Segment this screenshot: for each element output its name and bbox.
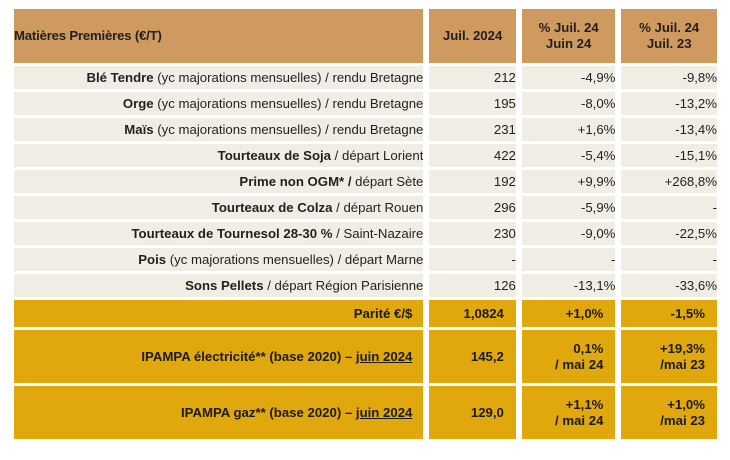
row-pct-year: - (621, 248, 717, 271)
row-value: 230 (429, 222, 516, 245)
ipampa-gaz-pct-month-main: +1,1% (566, 397, 604, 412)
table-row: Sons Pellets / départ Région Parisienne … (14, 274, 717, 297)
ipampa-gaz-pct-month-sub: / mai 24 (522, 413, 604, 429)
row-value: 126 (429, 274, 516, 297)
row-label: Sons Pellets / départ Région Parisienne (14, 274, 423, 297)
highlight-label-ipampa-electricite: IPAMPA électricité** (base 2020) – juin … (14, 330, 423, 383)
row-label-rest: (yc majorations mensuelles) / rendu Bret… (154, 96, 424, 111)
highlight-value-ipampa-gaz: 129,0 (429, 386, 516, 439)
column-header-value: Juil. 2024 (429, 9, 516, 63)
row-value: - (429, 248, 516, 271)
table-row: Pois (yc majorations mensuelles) / dépar… (14, 248, 717, 271)
highlight-label-ipampa-gaz: IPAMPA gaz** (base 2020) – juin 2024 (14, 386, 423, 439)
row-label-bold: Tourteaux de Colza (212, 200, 333, 215)
table-title: Matières Premières (€/T) (14, 9, 423, 63)
ipampa-electricite-base-year: 2020 (308, 349, 337, 364)
highlight-row-ipampa-gaz: IPAMPA gaz** (base 2020) – juin 2024 129… (14, 386, 717, 439)
row-pct-year: -13,4% (621, 118, 717, 141)
ipampa-electricite-label-pre: IPAMPA électricité** (base (141, 349, 307, 364)
highlight-pct-month-ipampa-electricite: 0,1%/ mai 24 (522, 330, 616, 383)
row-label: Tourteaux de Colza / départ Rouen (14, 196, 423, 219)
highlight-row-ipampa-electricite: IPAMPA électricité** (base 2020) – juin … (14, 330, 717, 383)
row-label-bold: Tourteaux de Soja (218, 148, 331, 163)
row-value: 195 (429, 92, 516, 115)
row-pct-month: - (522, 248, 616, 271)
ipampa-electricite-pct-month-sub: / mai 24 (522, 357, 604, 373)
highlight-pct-month-ipampa-gaz: +1,1%/ mai 24 (522, 386, 616, 439)
row-pct-year: -13,2% (621, 92, 717, 115)
row-value: 212 (429, 66, 516, 89)
row-value: 422 (429, 144, 516, 167)
highlight-value-ipampa-electricite: 145,2 (429, 330, 516, 383)
column-header-value-line1: Juil. 2024 (443, 28, 502, 43)
row-label-bold: Pois (138, 252, 166, 267)
row-label: Tourteaux de Tournesol 28-30 % / Saint-N… (14, 222, 423, 245)
column-header-pct-year-line2: Juil. 23 (621, 36, 717, 52)
ipampa-electricite-period-link[interactable]: juin 2024 (356, 349, 412, 364)
column-header-pct-year: % Juil. 24 Juil. 23 (621, 9, 717, 63)
row-label-bold: Sons Pellets (185, 278, 263, 293)
row-label-bold: Maïs (124, 122, 153, 137)
table-row: Tourteaux de Soja / départ Lorient 422 -… (14, 144, 717, 167)
row-pct-year: +268,8% (621, 170, 717, 193)
row-pct-year: -15,1% (621, 144, 717, 167)
column-header-pct-month-line2: Juin 24 (522, 36, 616, 52)
ipampa-gaz-pct-year-sub: /mai 23 (621, 413, 705, 429)
table-row: Blé Tendre (yc majorations mensuelles) /… (14, 66, 717, 89)
row-label: Blé Tendre (yc majorations mensuelles) /… (14, 66, 423, 89)
ipampa-electricite-pct-year-sub: /mai 23 (621, 357, 705, 373)
highlight-label-parite: Parité €/$ (14, 300, 423, 327)
table-row: Tourteaux de Colza / départ Rouen 296 -5… (14, 196, 717, 219)
highlight-row-parite: Parité €/$ 1,0824 +1,0% -1,5% (14, 300, 717, 327)
column-header-pct-month: % Juil. 24 Juin 24 (522, 9, 616, 63)
row-pct-month: -8,0% (522, 92, 616, 115)
highlight-pct-year-ipampa-electricite: +19,3%/mai 23 (621, 330, 717, 383)
highlight-pct-year-ipampa-gaz: +1,0%/mai 23 (621, 386, 717, 439)
highlight-pct-month-parite: +1,0% (522, 300, 616, 327)
ipampa-electricite-pct-month-main: 0,1% (573, 341, 603, 356)
table-header-row: Matières Premières (€/T) Juil. 2024 % Ju… (14, 9, 717, 63)
ipampa-gaz-label-mid: ) – (337, 405, 356, 420)
row-label-rest: départ Sète (352, 174, 424, 189)
row-label-bold: Blé Tendre (86, 70, 153, 85)
table-row: Tourteaux de Tournesol 28-30 % / Saint-N… (14, 222, 717, 245)
row-label-rest: (yc majorations mensuelles) / départ Mar… (166, 252, 423, 267)
row-pct-month: -4,9% (522, 66, 616, 89)
ipampa-gaz-pct-year-main: +1,0% (667, 397, 705, 412)
column-header-pct-month-line1: % Juil. 24 (539, 20, 599, 35)
row-label: Prime non OGM* / départ Sète (14, 170, 423, 193)
highlight-value-parite: 1,0824 (429, 300, 516, 327)
row-pct-year: -22,5% (621, 222, 717, 245)
row-label-bold: Prime non OGM* / (239, 174, 351, 189)
column-header-pct-year-line1: % Juil. 24 (639, 20, 699, 35)
row-label-rest: / Saint-Nazaire (332, 226, 423, 241)
row-label-bold: Tourteaux de Tournesol 28-30 % (131, 226, 332, 241)
row-label: Orge (yc majorations mensuelles) / rendu… (14, 92, 423, 115)
ipampa-electricite-label-mid: ) – (337, 349, 356, 364)
row-value: 231 (429, 118, 516, 141)
ipampa-gaz-label-pre: IPAMPA gaz** (base (181, 405, 308, 420)
table-row: Maïs (yc majorations mensuelles) / rendu… (14, 118, 717, 141)
table-row: Orge (yc majorations mensuelles) / rendu… (14, 92, 717, 115)
table-row: Prime non OGM* / départ Sète 192 +9,9% +… (14, 170, 717, 193)
row-pct-month: -13,1% (522, 274, 616, 297)
row-label: Tourteaux de Soja / départ Lorient (14, 144, 423, 167)
row-pct-month: -9,0% (522, 222, 616, 245)
row-pct-month: +1,6% (522, 118, 616, 141)
ipampa-gaz-base-year: 2020 (308, 405, 337, 420)
row-label: Pois (yc majorations mensuelles) / dépar… (14, 248, 423, 271)
row-label-rest: / départ Région Parisienne (264, 278, 424, 293)
row-label-bold: Orge (123, 96, 154, 111)
row-pct-year: - (621, 196, 717, 219)
row-pct-year: -33,6% (621, 274, 717, 297)
row-label-rest: / départ Lorient (331, 148, 423, 163)
ipampa-gaz-period-link[interactable]: juin 2024 (356, 405, 412, 420)
row-label-rest: / départ Rouen (332, 200, 423, 215)
row-pct-month: -5,9% (522, 196, 616, 219)
row-value: 192 (429, 170, 516, 193)
commodity-price-table-container: Matières Premières (€/T) Juil. 2024 % Ju… (0, 0, 730, 460)
row-label-rest: (yc majorations mensuelles) / rendu Bret… (154, 122, 424, 137)
ipampa-electricite-pct-year-main: +19,3% (660, 341, 705, 356)
row-label: Maïs (yc majorations mensuelles) / rendu… (14, 118, 423, 141)
row-pct-month: +9,9% (522, 170, 616, 193)
highlight-pct-year-parite: -1,5% (621, 300, 717, 327)
row-value: 296 (429, 196, 516, 219)
row-pct-month: -5,4% (522, 144, 616, 167)
commodity-price-table: Matières Premières (€/T) Juil. 2024 % Ju… (8, 6, 723, 442)
row-label-rest: (yc majorations mensuelles) / rendu Bret… (154, 70, 424, 85)
row-pct-year: -9,8% (621, 66, 717, 89)
